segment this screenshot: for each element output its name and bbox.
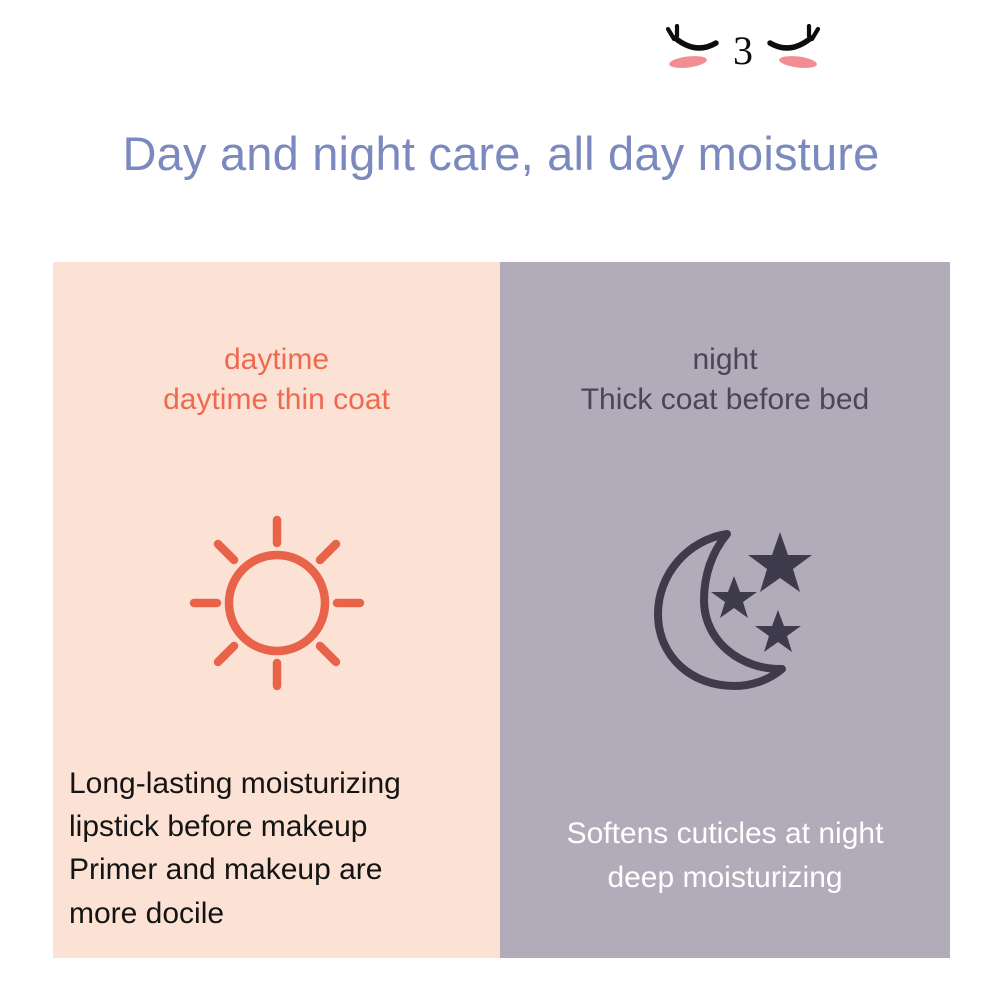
- day-night-comparison-board: daytime daytime thin coat Long-lastin: [53, 262, 950, 958]
- panel-daytime-heading-line1: daytime: [53, 340, 500, 380]
- mouth-3-glyph: 3: [733, 28, 753, 73]
- panel-daytime-body-line2: lipstick before makeup: [69, 805, 492, 848]
- left-blush-icon: [668, 54, 707, 70]
- panel-daytime-body-line4: more docile: [69, 892, 492, 935]
- panel-daytime-body-line1: Long-lasting moisturizing: [69, 762, 492, 805]
- panel-daytime-heading: daytime daytime thin coat: [53, 340, 500, 420]
- page-title: Day and night care, all day moisture: [0, 126, 1002, 181]
- panel-daytime: daytime daytime thin coat Long-lastin: [53, 262, 500, 958]
- panel-daytime-icon-wrap: [53, 510, 500, 696]
- star-small-icon: [755, 610, 801, 652]
- panel-night-heading-line2: Thick coat before bed: [500, 380, 950, 420]
- panel-night: night Thick coat before bed Softens cuti…: [500, 262, 950, 958]
- panel-night-icon-wrap: [500, 520, 950, 690]
- sun-icon: [184, 510, 370, 696]
- left-eye-icon: [675, 38, 716, 48]
- left-eyelash-icon: [668, 26, 677, 39]
- right-eye-icon: [770, 38, 811, 48]
- panel-night-heading: night Thick coat before bed: [500, 340, 950, 420]
- panel-night-body: Softens cuticles at night deep moisturiz…: [500, 812, 950, 899]
- panel-daytime-heading-line2: daytime thin coat: [53, 380, 500, 420]
- right-eyelash-icon: [809, 26, 818, 39]
- panel-night-body-line2: deep moisturizing: [514, 856, 936, 900]
- panel-daytime-body: Long-lasting moisturizing lipstick befor…: [53, 762, 500, 935]
- panel-night-heading-line1: night: [500, 340, 950, 380]
- star-large-icon: [748, 532, 812, 592]
- right-blush-icon: [778, 54, 817, 70]
- panel-night-body-line1: Softens cuticles at night: [514, 812, 936, 856]
- panel-daytime-body-line3: Primer and makeup are: [69, 848, 492, 891]
- moon-stars-icon: [630, 520, 820, 690]
- kaomoji-face-decoration: 3: [650, 18, 840, 80]
- star-medium-icon: [711, 576, 757, 618]
